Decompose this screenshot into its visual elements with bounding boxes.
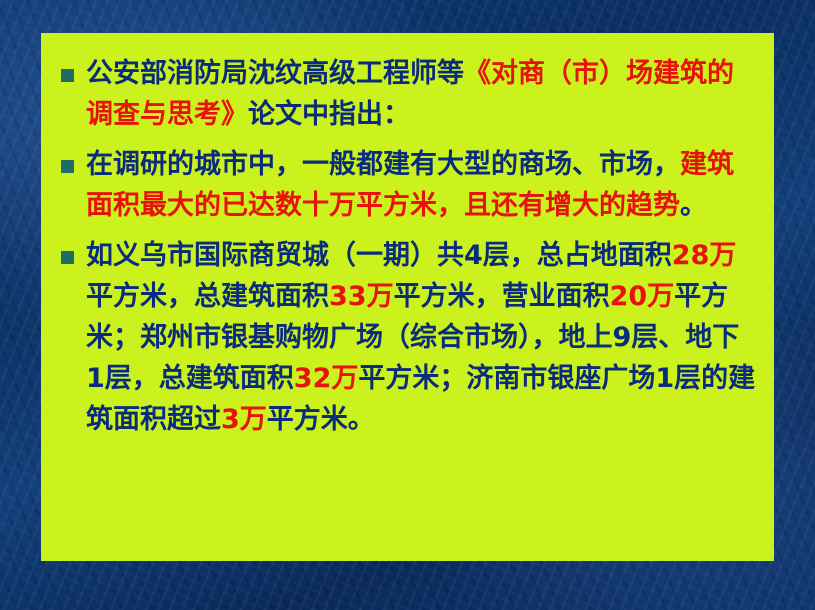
text-segment: 如义乌市国际商贸城（一期）共4层，总占地面积 [86,240,672,271]
paragraph-2: 在调研的城市中，一般都建有大型的商场、市场，建筑面积最大的已达数十万平方米，且还… [86,144,758,226]
list-item: 在调研的城市中，一般都建有大型的商场、市场，建筑面积最大的已达数十万平方米，且还… [61,144,758,235]
text-segment: 平方米，总建筑面积 [86,281,329,312]
text-segment: 论文中指出： [248,99,410,130]
text-segment: 。 [680,190,707,221]
paragraph-1: 公安部消防局沈纹高级工程师等《对商（市）场建筑的调查与思考》论文中指出： [86,53,758,135]
text-segment-highlight: 3万 [221,404,267,435]
text-segment: 平方米，营业面积 [394,281,610,312]
list-item: 如义乌市国际商贸城（一期）共4层，总占地面积28万平方米，总建筑面积33万平方米… [61,235,758,440]
text-segment: 平方米。 [267,404,375,435]
text-segment: 公安部消防局沈纹高级工程师等 [86,58,464,89]
paragraph-3: 如义乌市国际商贸城（一期）共4层，总占地面积28万平方米，总建筑面积33万平方米… [86,235,758,440]
square-bullet-icon [61,251,74,264]
presentation-slide: 公安部消防局沈纹高级工程师等《对商（市）场建筑的调查与思考》论文中指出： 在调研… [0,0,815,610]
text-segment-highlight: 28万 [672,240,737,271]
square-bullet-icon [61,160,74,173]
text-segment-highlight: 33万 [329,281,394,312]
text-segment: 在调研的城市中，一般都建有大型的商场、市场， [86,149,680,180]
list-item: 公安部消防局沈纹高级工程师等《对商（市）场建筑的调查与思考》论文中指出： [61,53,758,144]
content-panel: 公安部消防局沈纹高级工程师等《对商（市）场建筑的调查与思考》论文中指出： 在调研… [41,33,774,561]
square-bullet-icon [61,69,74,82]
text-segment-highlight: 32万 [294,363,359,394]
text-segment-highlight: 20万 [610,281,675,312]
